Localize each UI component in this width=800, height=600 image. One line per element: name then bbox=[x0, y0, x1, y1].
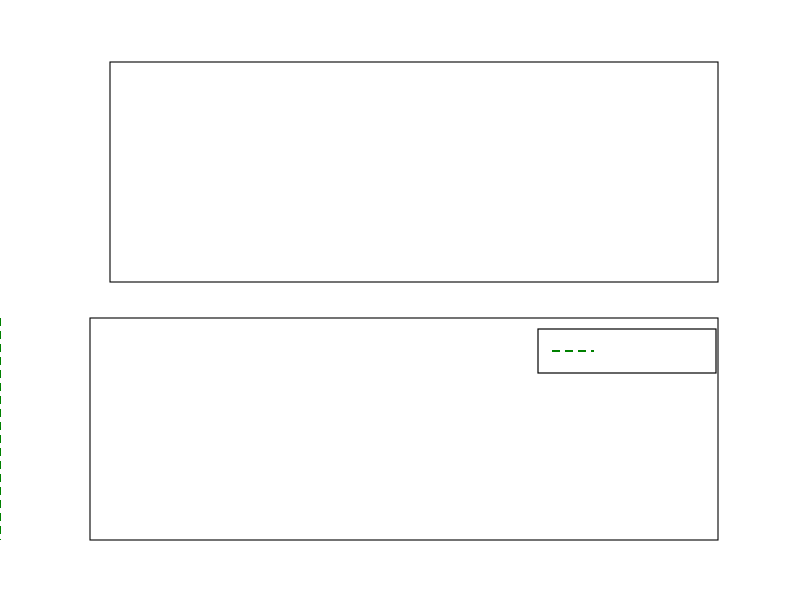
legend-frame bbox=[538, 329, 716, 373]
matplotlib-figure bbox=[0, 0, 800, 600]
legend[interactable] bbox=[538, 329, 716, 373]
top-axes-differential-histogram bbox=[110, 62, 718, 282]
bottom-axes-cumulative-histogram bbox=[0, 318, 718, 540]
top-axes-frame bbox=[110, 62, 718, 282]
figure-canvas bbox=[0, 0, 800, 600]
